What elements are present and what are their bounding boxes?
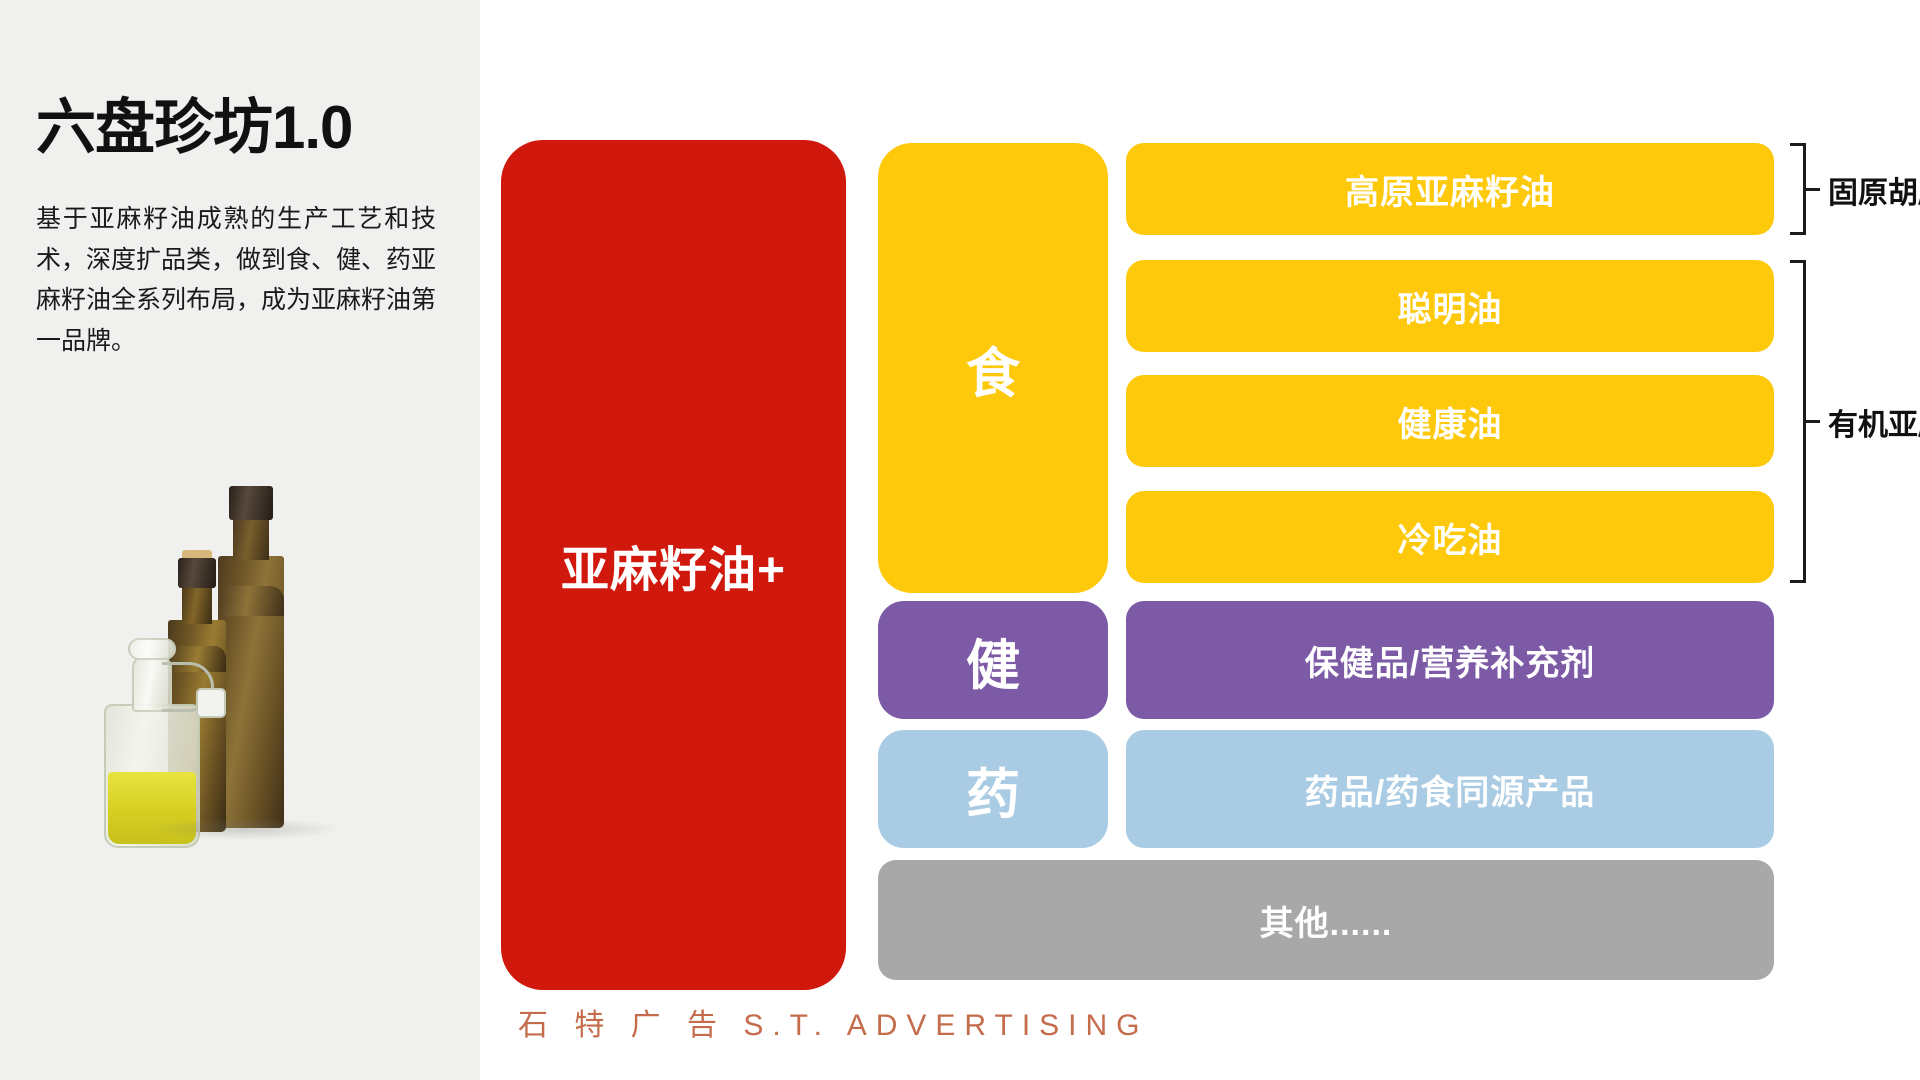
product-box: 药品/药食同源产品: [1126, 730, 1774, 848]
category-block-shi: 食: [878, 143, 1108, 593]
brand-description: 基于亚麻籽油成熟的生产工艺和技术，深度扩品类，做到食、健、药亚麻籽油全系列布局，…: [36, 199, 436, 361]
product-label: 聪明油: [1398, 282, 1503, 331]
category-label: 药: [966, 750, 1020, 829]
diagram-canvas: 亚麻籽油+ 食 健 药 高原亚麻籽油 聪明油 健康油 冷吃油 保健品/营养补充剂…: [480, 0, 1920, 1080]
tall-dark-bottle: [218, 556, 284, 828]
category-label: 食: [966, 329, 1020, 408]
oil-bottles-image: [96, 508, 336, 848]
category-block-jian: 健: [878, 601, 1108, 719]
bottle-neck: [233, 516, 269, 560]
bracket-label-organic: 有机亚麻籽油: [1828, 400, 1920, 444]
category-block-yao: 药: [878, 730, 1108, 848]
pillar-flaxseed-oil-plus: 亚麻籽油+: [501, 140, 846, 990]
bracket-guyuan: [1790, 143, 1806, 235]
bottle-cap: [229, 486, 273, 520]
product-label: 冷吃油: [1398, 513, 1503, 562]
bottle-shoulder: [218, 586, 284, 616]
product-box: 健康油: [1126, 375, 1774, 467]
product-box: 冷吃油: [1126, 491, 1774, 583]
sidebar: 六盘珍坊1.0 基于亚麻籽油成熟的生产工艺和技术，深度扩品类，做到食、健、药亚麻…: [0, 0, 480, 1080]
bracket-label-guyuan: 固原胡麻油: [1828, 168, 1920, 212]
bracket-tick: [1806, 188, 1820, 191]
bottle-cap: [178, 558, 216, 588]
bottle-neck: [182, 584, 212, 624]
cruet-clasp: [196, 688, 226, 718]
others-label: 其他......: [1260, 896, 1393, 945]
product-box: 聪明油: [1126, 260, 1774, 352]
bottles-shadow: [150, 818, 340, 840]
bracket-tick: [1806, 420, 1820, 423]
product-label: 保健品/营养补充剂: [1305, 636, 1595, 685]
cruet-stopper: [128, 638, 176, 660]
product-label: 药品/药食同源产品: [1305, 765, 1595, 814]
product-label: 健康油: [1398, 397, 1503, 446]
footer-agency-credit: 石 特 广 告 S.T. ADVERTISING: [518, 1000, 1149, 1044]
category-label: 健: [966, 621, 1020, 700]
page-title: 六盘珍坊1.0: [36, 96, 440, 159]
product-box: 保健品/营养补充剂: [1126, 601, 1774, 719]
bracket-organic: [1790, 260, 1806, 583]
product-label: 高原亚麻籽油: [1345, 165, 1555, 214]
others-box: 其他......: [878, 860, 1774, 980]
product-box: 高原亚麻籽油: [1126, 143, 1774, 235]
pillar-label: 亚麻籽油+: [561, 530, 786, 600]
